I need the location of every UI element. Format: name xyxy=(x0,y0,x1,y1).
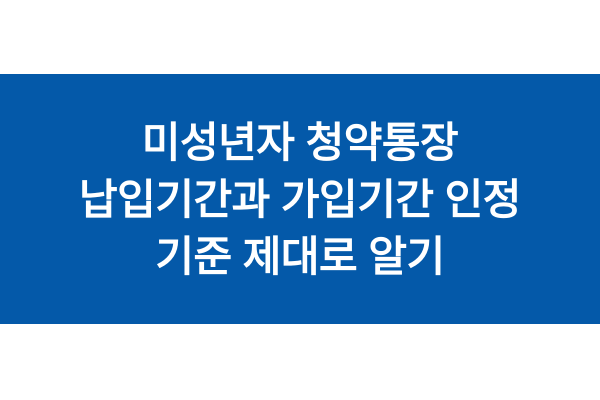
headline-block: 미성년자 청약통장 납입기간과 가입기간 인정 기준 제대로 알기 xyxy=(79,114,521,285)
headline-line-1: 미성년자 청약통장 xyxy=(142,114,458,171)
headline-line-2: 납입기간과 가입기간 인정 xyxy=(79,171,521,228)
blue-banner: 미성년자 청약통장 납입기간과 가입기간 인정 기준 제대로 알기 xyxy=(0,74,600,324)
headline-line-3: 기준 제대로 알기 xyxy=(155,228,444,285)
thumbnail-canvas: 미성년자 청약통장 납입기간과 가입기간 인정 기준 제대로 알기 xyxy=(0,0,600,400)
